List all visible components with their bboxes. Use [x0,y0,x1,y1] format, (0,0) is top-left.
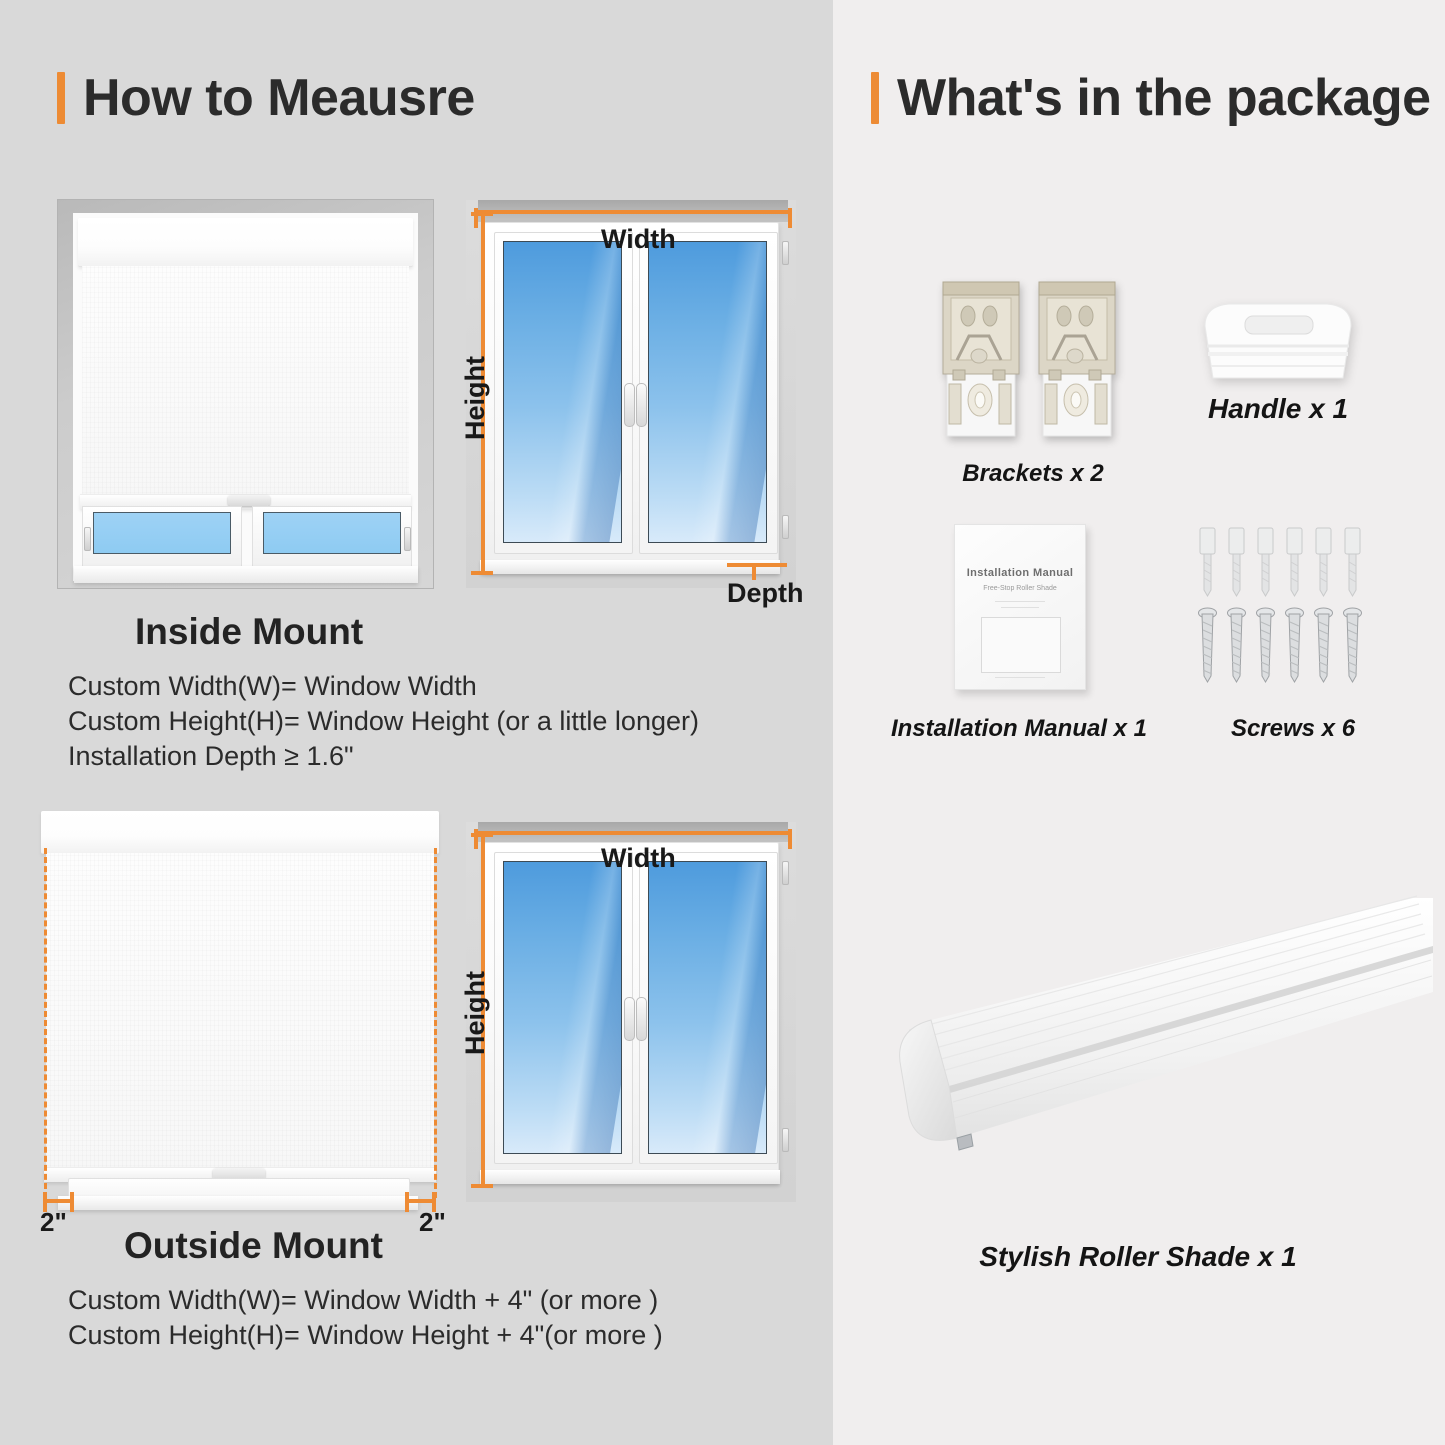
outside-spec-2: Custom Height(H)= Window Height + 4"(or … [68,1318,663,1353]
depth-label: Depth [727,578,804,609]
width-label: Width [601,224,676,255]
overhang-left-label: 2" [40,1207,67,1238]
screws-label: Screws x 6 [1173,715,1413,743]
accent-bar-icon [57,72,65,124]
outside-mount-specs: Custom Width(W)= Window Width + 4" (or m… [68,1283,663,1353]
inside-spec-1: Custom Width(W)= Window Width [68,669,699,704]
installation-manual-label: Installation Manual x 1 [879,715,1159,743]
overhang-guide-right [434,848,437,1198]
roller-shade-image [853,880,1433,1215]
inside-mount-title: Inside Mount [135,611,363,653]
roller-shade-label: Stylish Roller Shade x 1 [888,1241,1388,1273]
manual-cover-title: Installation Manual [955,567,1085,579]
inside-spec-2: Custom Height(H)= Window Height (or a li… [68,704,699,739]
outside-spec-1: Custom Width(W)= Window Width + 4" (or m… [68,1283,663,1318]
overhang-right-label: 2" [419,1207,446,1238]
infographic-page: How to Meausre [0,0,1445,1445]
handle-label: Handle x 1 [1163,393,1393,425]
screws-image [1196,524,1376,693]
brackets-label: Brackets x 2 [893,460,1173,488]
how-to-measure-title: How to Meausre [83,72,475,124]
outside-width-label: Width [601,843,676,874]
brackets-image [933,272,1123,449]
outside-height-label: Height [460,971,491,1055]
outside-mount-title: Outside Mount [124,1225,383,1267]
how-to-measure-heading: How to Meausre [57,72,475,124]
how-to-measure-panel: How to Meausre [0,0,833,1445]
accent-bar-icon [871,72,879,124]
inside-mount-specs: Custom Width(W)= Window Width Custom Hei… [68,669,699,774]
height-label: Height [460,356,491,440]
inside-spec-3: Installation Depth ≥ 1.6" [68,739,699,774]
width-measure-line [474,210,792,214]
manual-cover-subtitle: Free-Stop Roller Shade [955,585,1085,592]
overhang-guide-left [44,848,47,1198]
package-contents-panel: What's in the package [833,0,1445,1445]
package-title: What's in the package [897,72,1431,124]
package-heading: What's in the package [871,72,1431,124]
handle-image [1193,296,1363,387]
installation-manual-image: Installation Manual Free-Stop Roller Sha… [954,524,1086,690]
depth-measure-line [727,563,787,567]
